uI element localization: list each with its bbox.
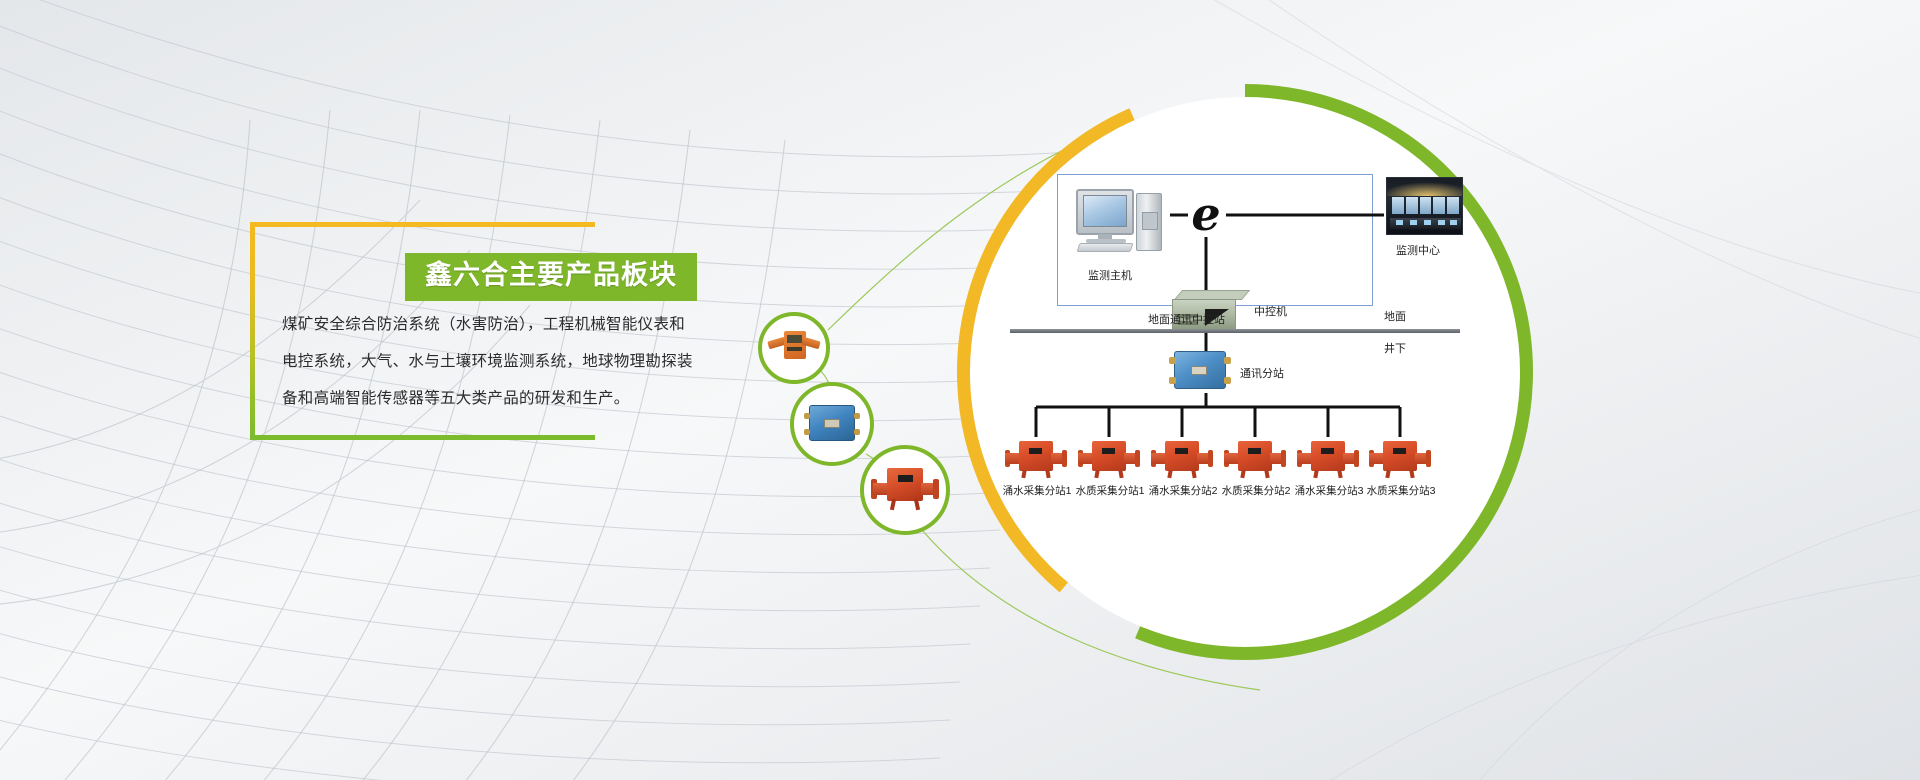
collector-device (1005, 439, 1067, 479)
communication-substation-icon (1168, 349, 1232, 393)
page-title: 鑫六合主要产品板块 (405, 253, 697, 301)
description-line-2: 电控系统，大气、水与土壤环境监测系统，地球物理勘探装 (282, 343, 712, 380)
ground-station-label: 地面通讯中控站 (1148, 311, 1225, 327)
device-label: 水质采集分站3 (1361, 483, 1441, 498)
underground-level-label: 井下 (1384, 340, 1406, 356)
description-line-1: 煤矿安全综合防治系统（水害防治），工程机械智能仪表和 (282, 306, 712, 343)
bracket-top-edge (250, 222, 595, 227)
collector-device (1224, 439, 1286, 479)
blue-device-icon (804, 403, 860, 445)
bracket-left-edge (250, 222, 255, 440)
product-bubble-orange[interactable] (758, 312, 830, 384)
bracket-bottom-edge (250, 435, 595, 440)
collector-device (1151, 439, 1213, 479)
collector-device (1297, 439, 1359, 479)
device-label: 涌水采集分站1 (997, 483, 1077, 498)
collector-device (1078, 439, 1140, 479)
video-wall (1392, 197, 1459, 214)
surface-underground-divider (1010, 329, 1460, 333)
monitoring-host-label: 监测主机 (1088, 267, 1132, 283)
product-bubble-red[interactable] (860, 445, 950, 535)
drive-bay (1142, 212, 1158, 230)
internet-e-icon: e (1184, 193, 1228, 237)
pc-tower-icon (1136, 193, 1162, 251)
keyboard-icon (1077, 243, 1134, 252)
control-desk (1390, 218, 1461, 229)
red-device-icon (871, 468, 939, 512)
description-line-3: 备和高端智能传感器等五大类产品的研发和生产。 (282, 380, 712, 417)
screen-glass (1083, 195, 1127, 227)
monitoring-center-photo (1386, 177, 1463, 235)
orange-device-icon (768, 331, 820, 365)
ground-level-label: 地面 (1384, 308, 1406, 324)
banner-stage: 鑫六合主要产品板块 煤矿安全综合防治系统（水害防治），工程机械智能仪表和 电控系… (0, 0, 1920, 780)
monitor-icon (1076, 189, 1134, 235)
monitoring-host-icon (1076, 187, 1172, 259)
device-label: 水质采集分站1 (1070, 483, 1150, 498)
device-label: 涌水采集分站2 (1143, 483, 1223, 498)
system-topology-diagram: 监测主机 e 监测中心 (970, 97, 1520, 647)
description-text: 煤矿安全综合防治系统（水害防治），工程机械智能仪表和 电控系统，大气、水与土壤环… (282, 306, 712, 417)
ceiling-glow (1386, 182, 1463, 196)
device-label: 涌水采集分站3 (1289, 483, 1369, 498)
product-bubble-blue[interactable] (790, 382, 874, 466)
collector-device (1369, 439, 1431, 479)
product-illustration: 监测主机 e 监测中心 (700, 0, 1920, 780)
monitoring-center-label: 监测中心 (1396, 242, 1440, 258)
central-control-machine-label: 中控机 (1254, 303, 1287, 319)
substation-display (1191, 366, 1207, 375)
communication-substation-label: 通讯分站 (1240, 365, 1284, 381)
device-label: 水质采集分站2 (1216, 483, 1296, 498)
